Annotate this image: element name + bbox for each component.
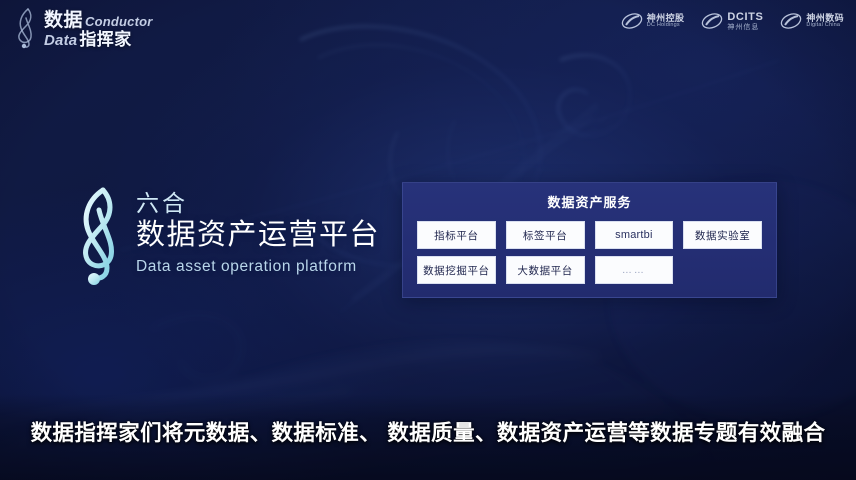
partner-logo-dcits[interactable]: DCITS 神州信息: [701, 12, 763, 31]
caption-text: 数据指挥家们将元数据、数据标准、 数据质量、数据资产运营等数据专题有效融合: [0, 416, 856, 447]
slide-canvas: 数据 Conductor Data 指挥家 神州控股 DC Holdings: [0, 0, 856, 480]
brand-line1-en: Conductor: [85, 15, 153, 28]
partner-name-en: Digital China: [806, 23, 844, 29]
top-bar: 数据 Conductor Data 指挥家 神州控股 DC Holdings: [0, 0, 856, 58]
partner-logo-digital-china[interactable]: 神州数码 Digital China: [780, 12, 844, 30]
brand-wordmark: 数据 Conductor Data 指挥家: [44, 11, 153, 48]
service-tile-indicator-platform[interactable]: 指标平台: [417, 221, 496, 249]
service-tile-grid: 指标平台 标签平台 smartbi 数据实验室 数据挖掘平台 大数据平台 ……: [417, 221, 762, 284]
partner-logo-dc-holdings[interactable]: 神州控股 DC Holdings: [621, 12, 685, 30]
data-asset-service-card: 数据资产服务 指标平台 标签平台 smartbi 数据实验室 数据挖掘平台 大数…: [402, 182, 777, 298]
card-heading: 数据资产服务: [403, 192, 776, 211]
brand-line1-cn: 数据: [44, 11, 83, 30]
partner-label: DCITS 神州信息: [727, 12, 763, 31]
partner-logo-group: 神州控股 DC Holdings DCITS 神州信息: [621, 12, 844, 31]
service-tile-data-mining-platform[interactable]: 数据挖掘平台: [417, 256, 496, 284]
partner-name-en: 神州信息: [727, 24, 763, 31]
service-tile-more[interactable]: ……: [595, 256, 674, 284]
service-tile-data-lab[interactable]: 数据实验室: [683, 221, 762, 249]
service-tile-tag-platform[interactable]: 标签平台: [506, 221, 585, 249]
service-tile-smartbi[interactable]: smartbi: [595, 221, 674, 249]
partner-label: 神州数码 Digital China: [806, 14, 844, 29]
treble-clef-icon: [12, 6, 42, 50]
partner-name-cn: DCITS: [727, 12, 763, 24]
brand-line2-cn: 指挥家: [79, 31, 132, 48]
platform-title-text: 六合 数据资产运营平台 Data asset operation platfor…: [136, 182, 380, 276]
partner-name-en: DC Holdings: [647, 23, 685, 29]
service-tile-big-data-platform[interactable]: 大数据平台: [506, 256, 585, 284]
swirl-logo-icon: [780, 12, 802, 30]
swirl-logo-icon: [701, 12, 723, 30]
platform-title-main: 数据资产运营平台: [136, 217, 380, 254]
platform-title-small: 六合: [136, 190, 380, 217]
treble-clef-icon: [70, 184, 126, 288]
brand-line2-en: Data: [44, 33, 77, 48]
platform-title-block: 六合 数据资产运营平台 Data asset operation platfor…: [70, 182, 380, 288]
swirl-logo-icon: [621, 12, 643, 30]
partner-label: 神州控股 DC Holdings: [647, 14, 685, 29]
platform-title-english: Data asset operation platform: [136, 258, 380, 276]
brand-logo[interactable]: 数据 Conductor Data 指挥家: [12, 6, 153, 50]
